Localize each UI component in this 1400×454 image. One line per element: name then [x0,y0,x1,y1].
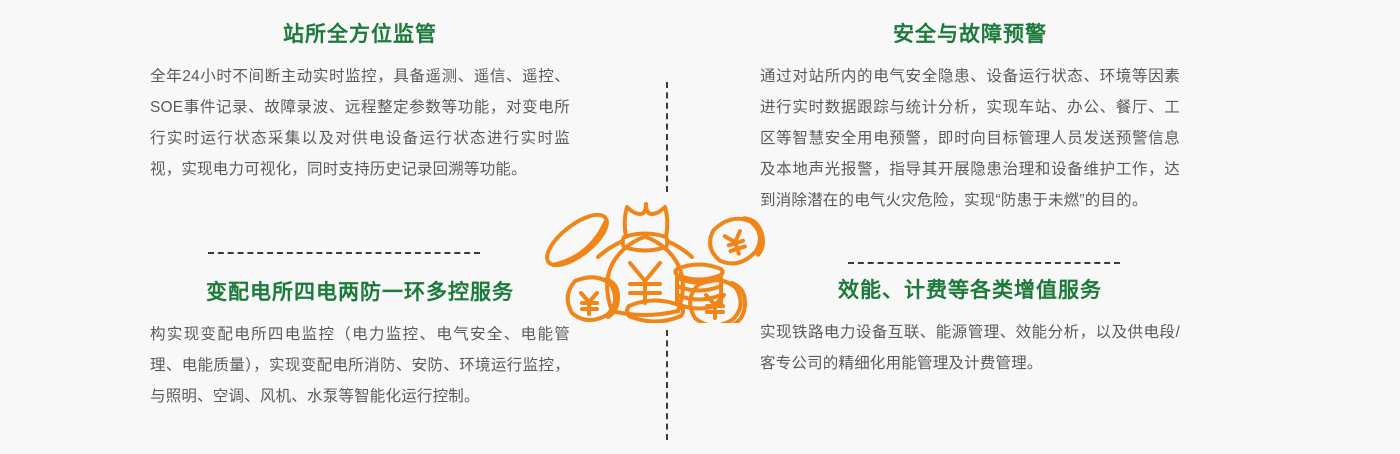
panel-body-efficiency-billing-services: 实现铁路电力设备互联、能源管理、效能分析，以及供电段/客专公司的精细化用能管理及… [760,317,1180,379]
panel-substation-multi-control: 变配电所四电两防一环多控服务 构实现变配电所四电监控（电力监控、电气安全、电能管… [150,280,570,412]
panel-title-efficiency-billing-services: 效能、计费等各类增值服务 [760,278,1180,303]
feature-grid-stage: 站所全方位监管 全年24小时不间断主动实时监控，具备遥测、遥信、遥控、SOE事件… [0,0,1400,454]
money-bag-coins-icon [520,183,770,323]
panel-title-station-monitoring: 站所全方位监管 [150,22,570,47]
divider-center-vertical-bottom [666,330,668,440]
divider-right-horizontal [848,262,1120,264]
panel-station-monitoring: 站所全方位监管 全年24小时不间断主动实时监控，具备遥测、遥信、遥控、SOE事件… [150,22,570,185]
panel-title-safety-fault-warning: 安全与故障预警 [760,22,1180,47]
panel-body-safety-fault-warning: 通过对站所内的电气安全隐患、设备运行状态、环境等因素进行实时数据跟踪与统计分析，… [760,61,1180,216]
panel-safety-fault-warning: 安全与故障预警 通过对站所内的电气安全隐患、设备运行状态、环境等因素进行实时数据… [760,22,1180,216]
panel-efficiency-billing-services: 效能、计费等各类增值服务 实现铁路电力设备互联、能源管理、效能分析，以及供电段/… [760,278,1180,379]
panel-body-substation-multi-control: 构实现变配电所四电监控（电力监控、电气安全、电能管理、电能质量），实现变配电所消… [150,319,570,412]
panel-title-substation-multi-control: 变配电所四电两防一环多控服务 [150,280,570,305]
divider-center-vertical-top [666,82,668,192]
divider-left-horizontal [208,252,480,254]
panel-body-station-monitoring: 全年24小时不间断主动实时监控，具备遥测、遥信、遥控、SOE事件记录、故障录波、… [150,61,570,185]
